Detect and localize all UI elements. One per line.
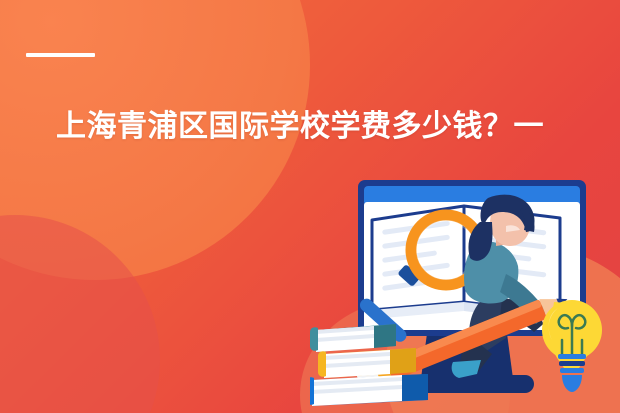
study-search-illustration bbox=[310, 178, 620, 413]
page-title: 上海青浦区国际学校学费多少钱？一 bbox=[56, 107, 616, 147]
lightbulb-icon bbox=[542, 300, 602, 392]
article-cover-banner: 上海青浦区国际学校学费多少钱？一 bbox=[0, 0, 620, 413]
title-divider bbox=[26, 53, 95, 57]
book-stack-icon bbox=[310, 324, 428, 406]
